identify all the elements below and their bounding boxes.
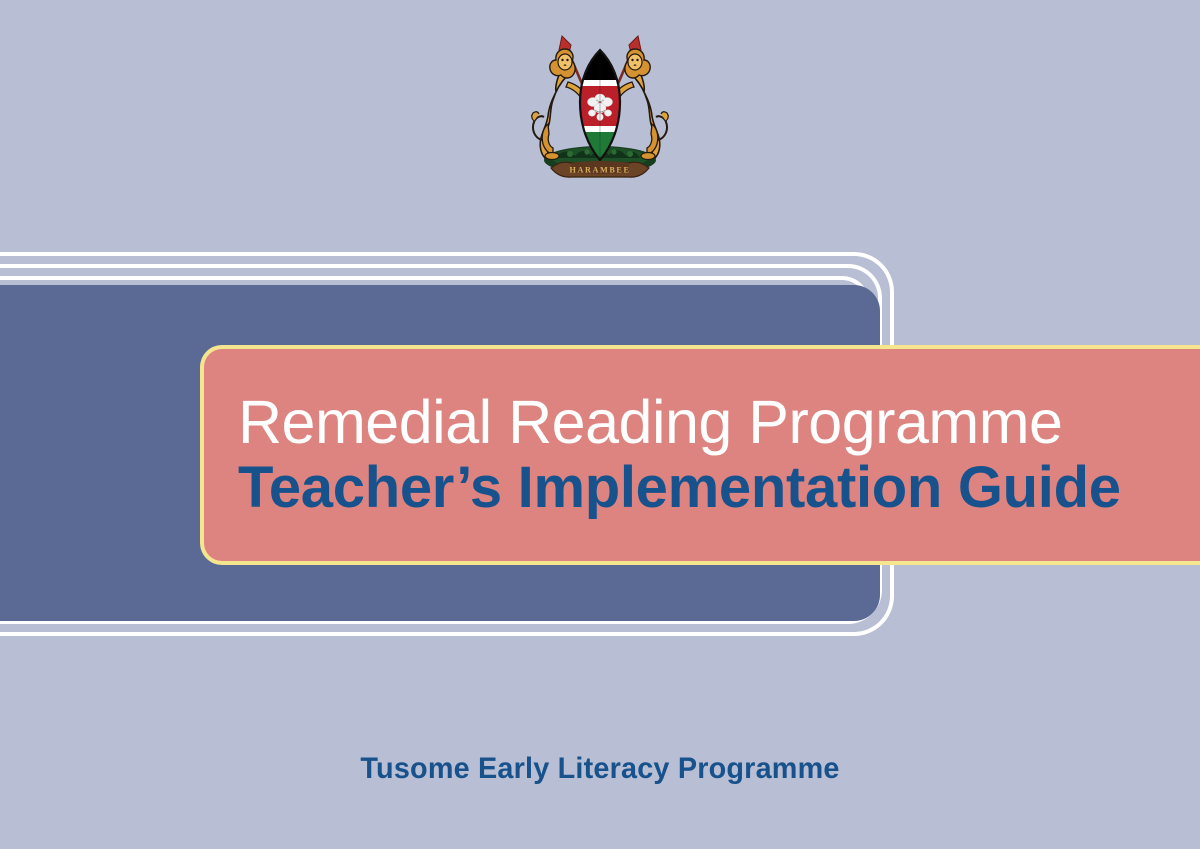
harambee-motto-text: HARAMBEE xyxy=(569,166,630,175)
kenya-coat-of-arms-icon: HARAMBEE xyxy=(515,28,685,188)
harambee-scroll: HARAMBEE xyxy=(551,161,649,177)
programme-footer-text: Tusome Early Literacy Programme xyxy=(24,752,1176,786)
cover-page: HARAMBEE Remedial Reading Programme Teac… xyxy=(0,0,1200,849)
lion-left-icon xyxy=(532,49,585,160)
coat-of-arms-container: HARAMBEE xyxy=(0,28,1200,188)
lion-right-icon xyxy=(615,49,668,160)
kenya-shield-icon xyxy=(575,48,625,164)
title-banner: Remedial Reading Programme Teacher’s Imp… xyxy=(200,345,1200,565)
cover-title-line-1: Remedial Reading Programme xyxy=(238,391,1200,453)
cover-title-line-2: Teacher’s Implementation Guide xyxy=(238,457,1200,520)
